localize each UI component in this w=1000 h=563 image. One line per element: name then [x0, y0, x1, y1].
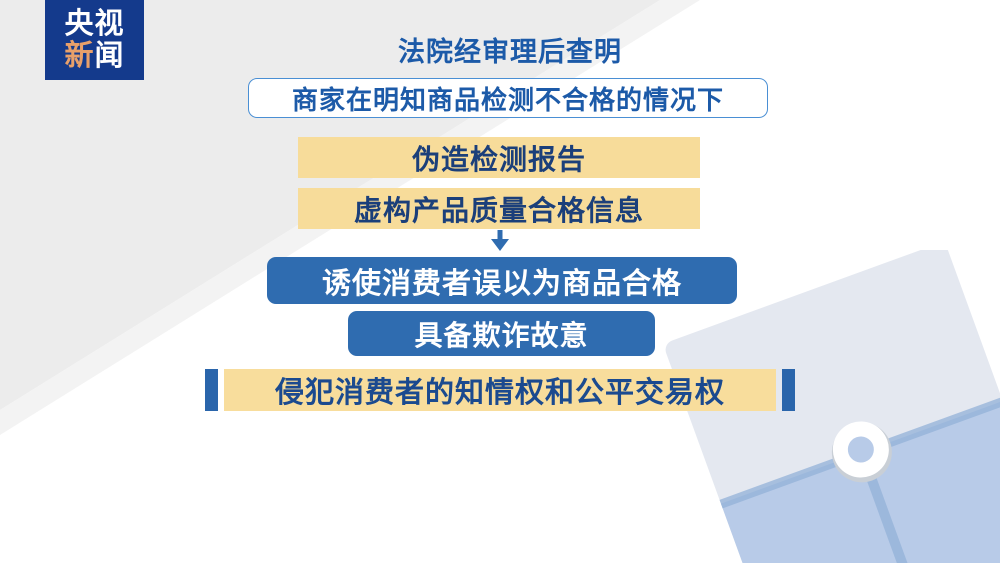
logo-char-wen: 闻 — [95, 41, 125, 70]
conclusion-bar-right — [782, 369, 795, 411]
logo-line-top: 央 视 — [64, 9, 124, 38]
flow-diagram: 法院经审理后查明 商家在明知商品检测不合格的情况下 伪造检测报告 虚构产品质量合… — [0, 0, 1000, 563]
logo-line-bottom: 新 闻 — [64, 41, 124, 70]
flow-conclusion-banner: 侵犯消费者的知情权和公平交易权 — [205, 369, 795, 411]
slide-canvas: 央 视 新 闻 法院经审理后查明 商家在明知商品检测不合格的情况下 伪造检测报告… — [0, 0, 1000, 563]
flow-premise-box: 商家在明知商品检测不合格的情况下 — [248, 78, 768, 118]
flow-act-box-2: 虚构产品质量合格信息 — [298, 188, 700, 229]
flow-effect-box-1: 诱使消费者误以为商品合格 — [267, 257, 737, 304]
down-arrow-icon — [480, 228, 520, 254]
cctv-news-logo: 央 视 新 闻 — [45, 0, 144, 80]
flow-effect-box-2: 具备欺诈故意 — [348, 311, 655, 356]
conclusion-text: 侵犯消费者的知情权和公平交易权 — [224, 369, 776, 411]
down-arrow-glyph — [489, 229, 511, 253]
flow-act-box-1: 伪造检测报告 — [298, 137, 700, 178]
logo-char-yang: 央 — [64, 9, 94, 38]
flow-title: 法院经审理后查明 — [250, 31, 770, 67]
logo-char-shi: 视 — [95, 9, 125, 38]
logo-char-xin: 新 — [64, 41, 94, 70]
conclusion-bar-left — [205, 369, 218, 411]
